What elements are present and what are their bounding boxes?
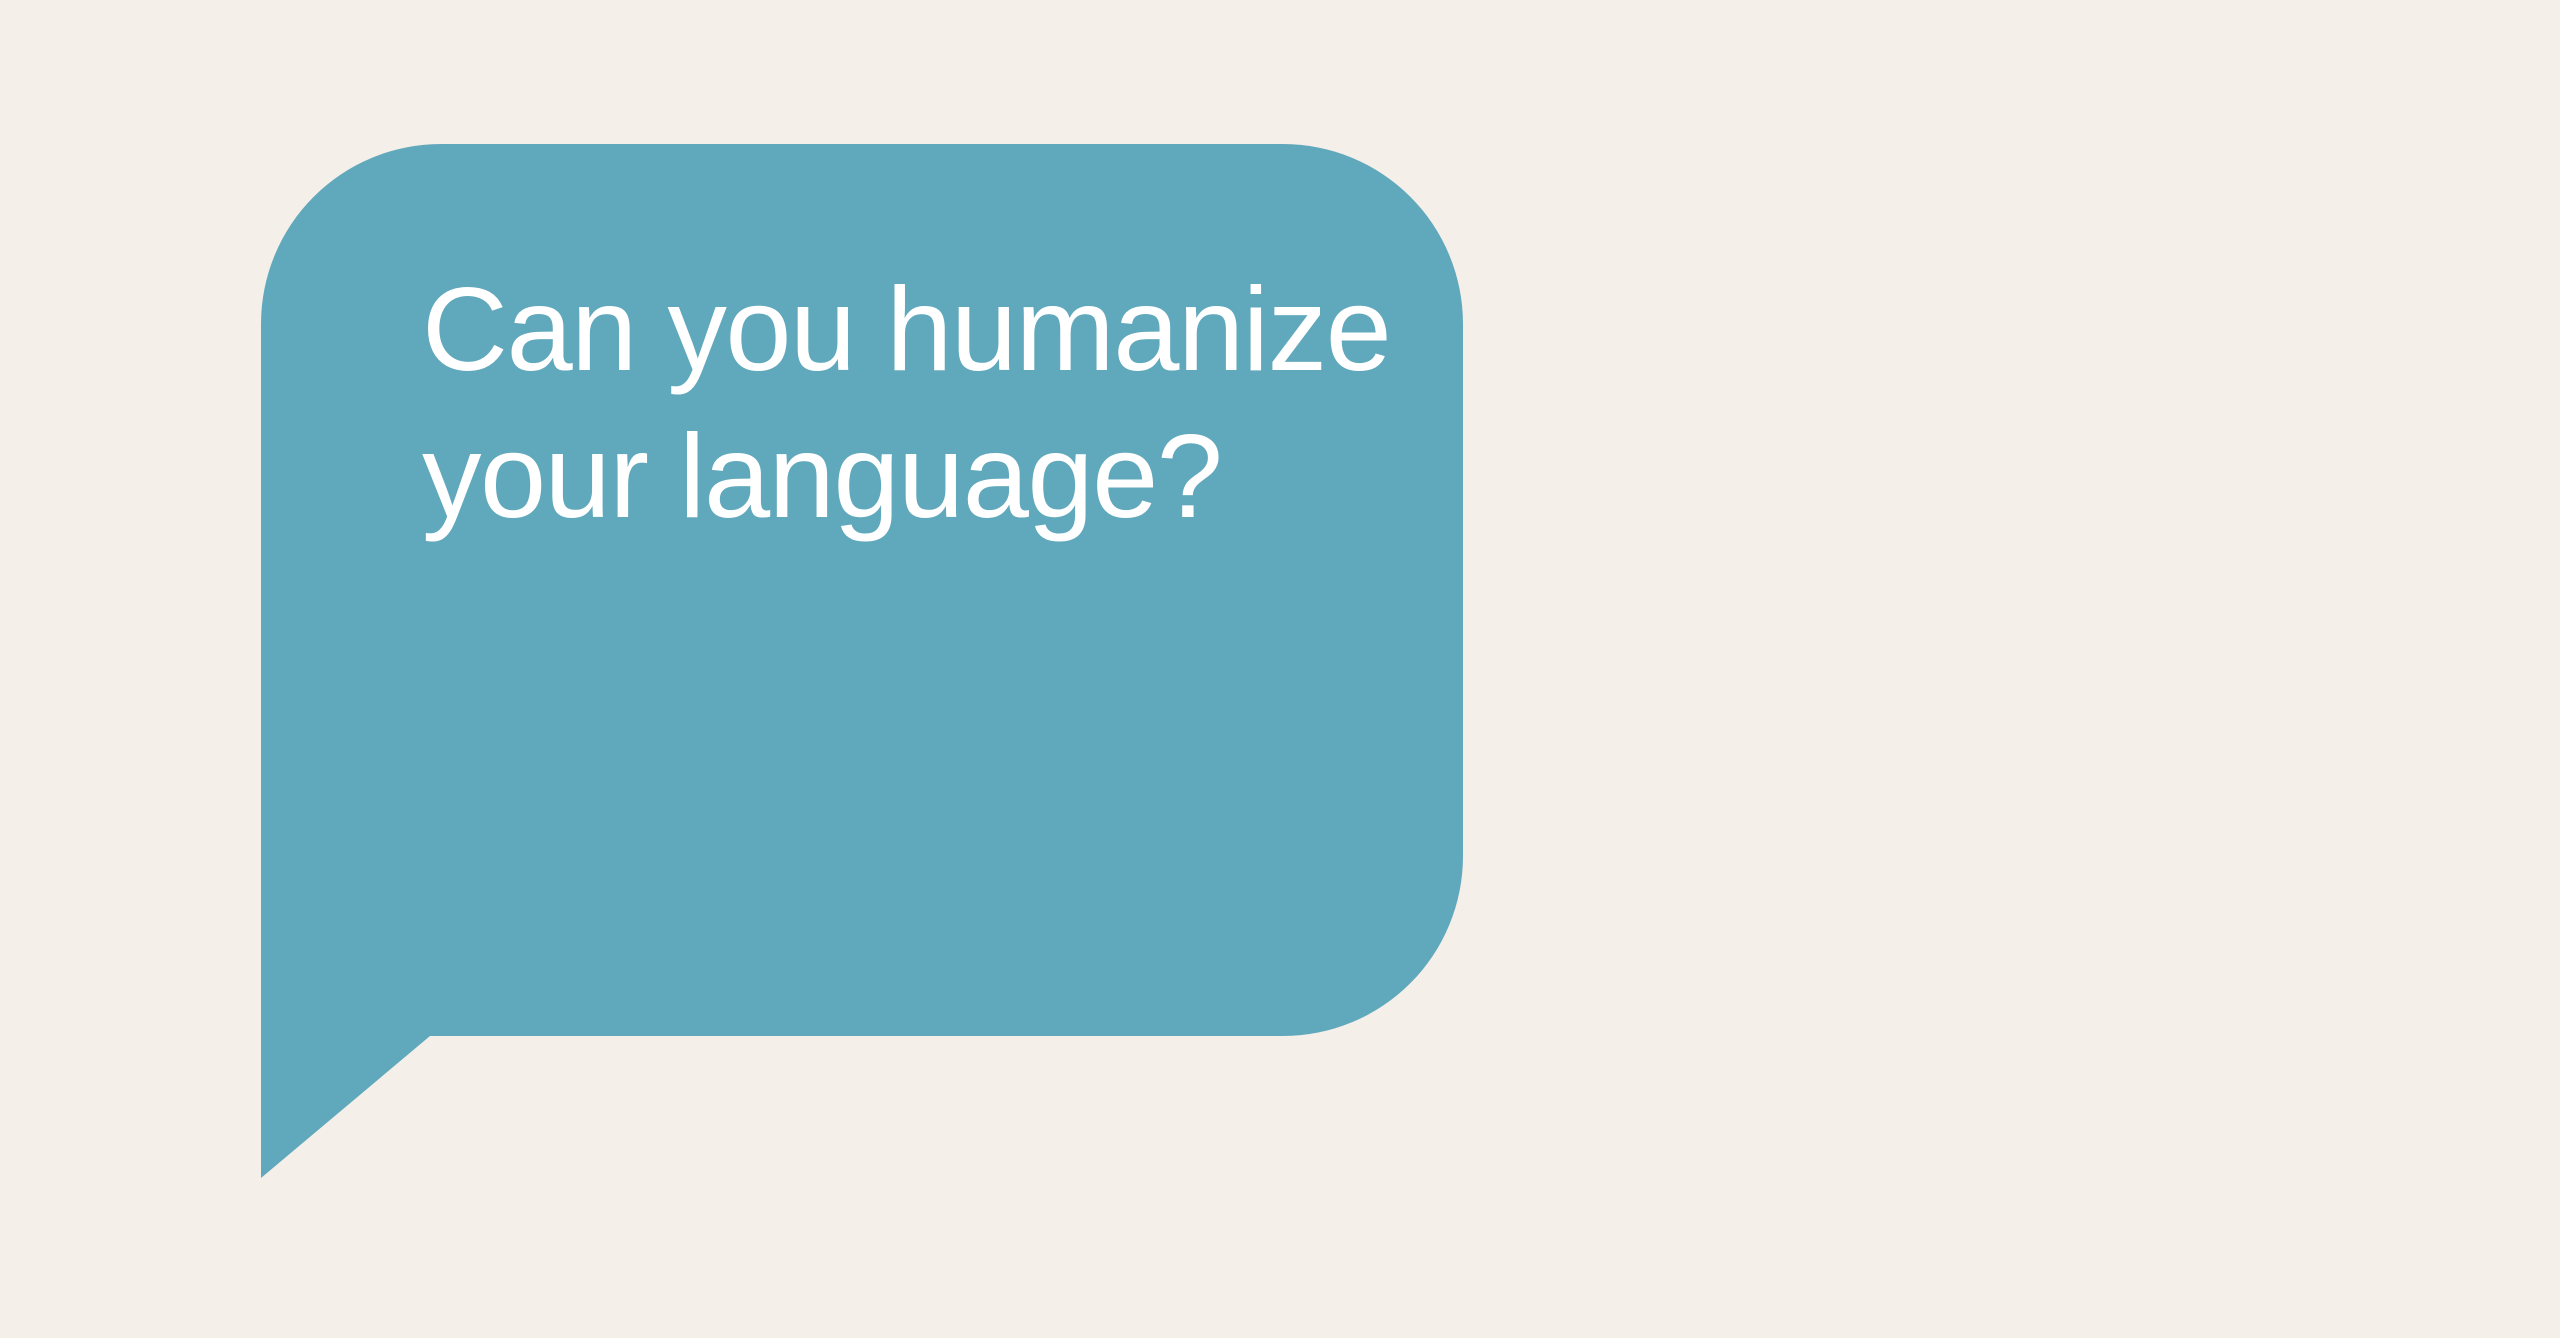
speech-bubble: Can you humanize your language? [261, 144, 1463, 1178]
speech-bubble-message: Can you humanize your language? [422, 256, 1402, 550]
poster-canvas: Can you humanize your language? [0, 0, 2560, 1338]
